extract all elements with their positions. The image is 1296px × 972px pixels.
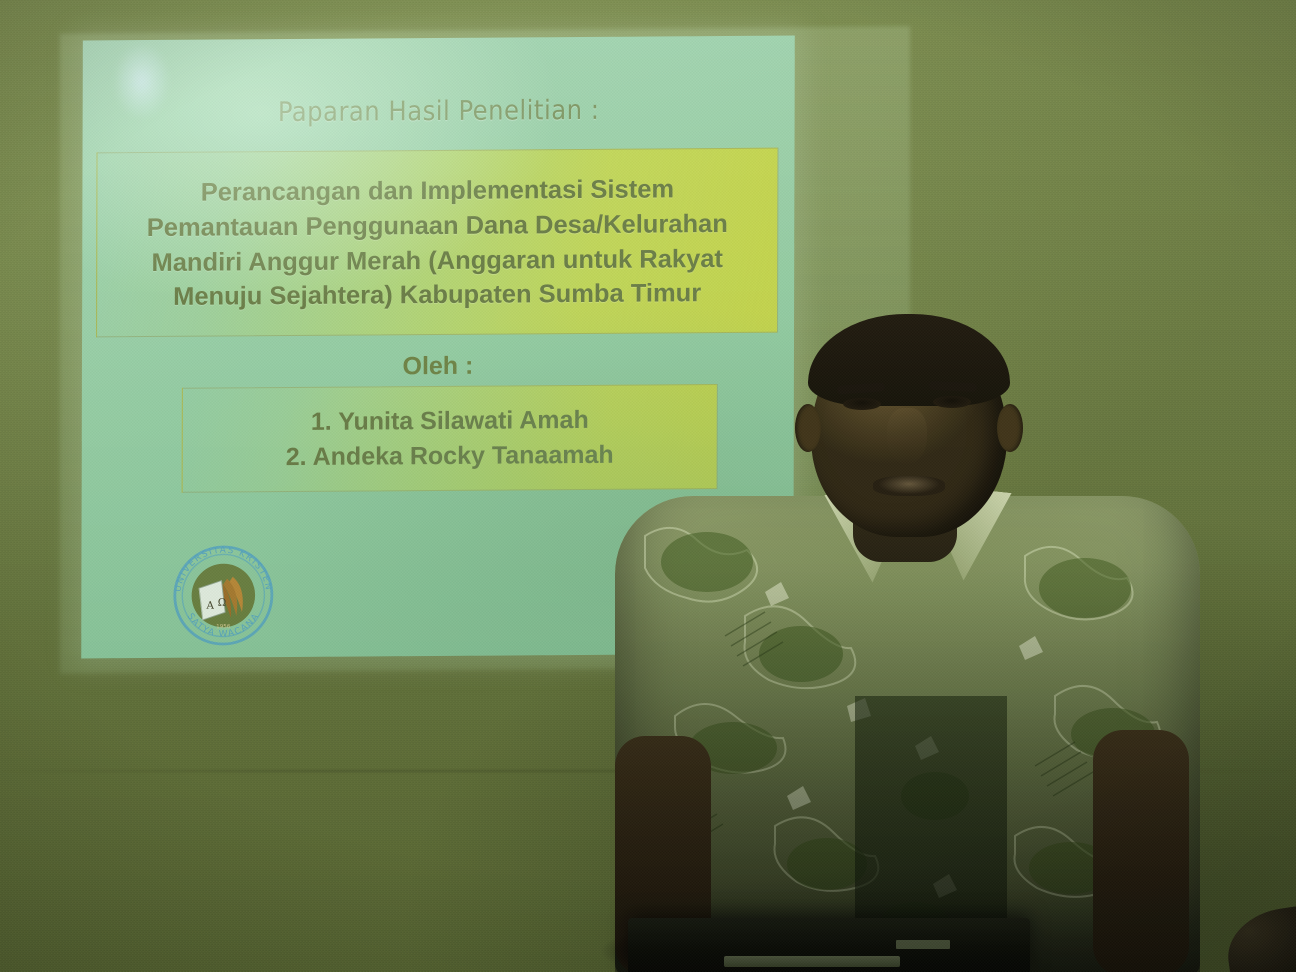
presenter-arm-right	[1093, 730, 1189, 972]
author-item: 2. Andeka Rocky Tanaamah	[286, 438, 614, 473]
author-item: 1. Yunita Silawati Amah	[311, 404, 589, 438]
svg-text:Ω: Ω	[218, 597, 227, 609]
screen-reflection	[113, 42, 171, 120]
presenter-nose	[887, 408, 927, 464]
photo-scene: Paparan Hasil Penelitian : Perancangan d…	[0, 0, 1296, 972]
laptop-label-strip	[724, 956, 900, 967]
svg-text:A: A	[206, 600, 215, 612]
presenter-mouth	[873, 476, 945, 496]
laptop	[628, 918, 1030, 972]
presenter	[615, 300, 1200, 972]
presenter-eye-left	[843, 398, 881, 410]
presenter-ear-left	[795, 404, 821, 452]
research-title-line: Mandiri Anggur Merah (Anggaran untuk Rak…	[151, 242, 723, 281]
presenter-eye-right	[933, 396, 971, 408]
presenter-ear-right	[997, 404, 1023, 452]
laptop-badge	[896, 940, 950, 949]
slide-heading: Paparan Hasil Penelitian :	[83, 94, 795, 130]
research-title-line: Perancangan dan Implementasi Sistem	[201, 173, 674, 211]
uksw-logo-icon: A Ω 1956 UNIVERSITAS KRISTEN SATYA WACAN…	[167, 539, 279, 652]
research-title-line: Pemantauan Penggunaan Dana Desa/Keluraha…	[147, 207, 728, 246]
